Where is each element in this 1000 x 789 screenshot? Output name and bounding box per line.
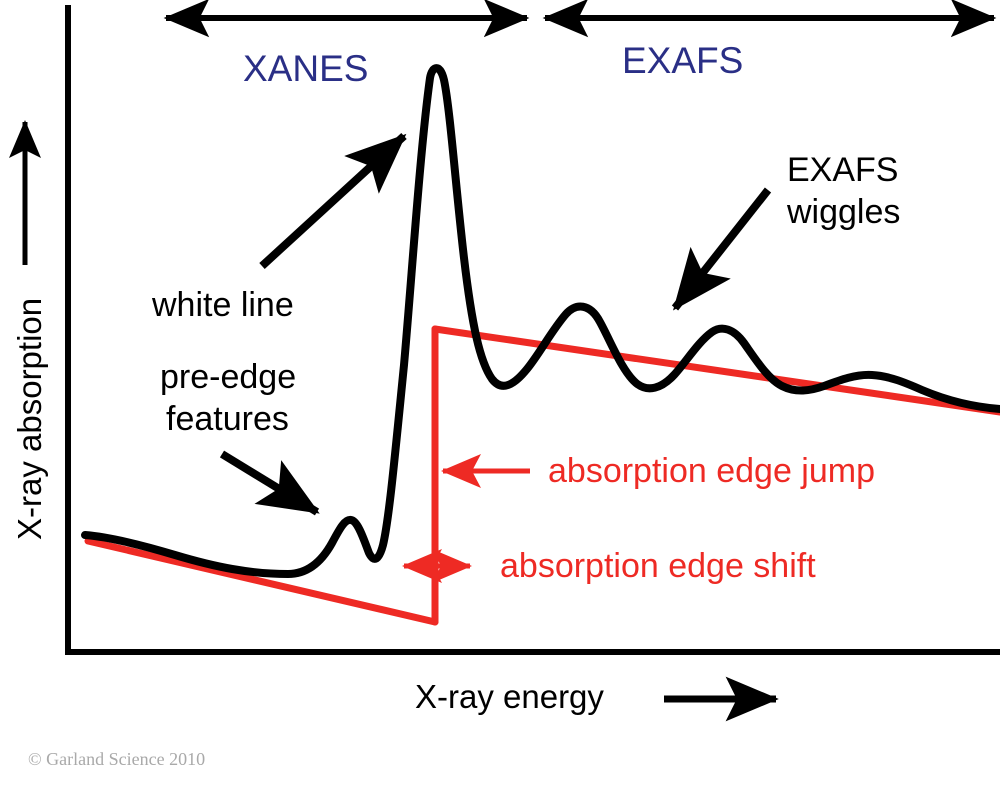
copyright-notice: © Garland Science 2010	[28, 749, 205, 769]
annotation-white-line: white line	[152, 286, 294, 324]
region-label-xanes: XANES	[243, 48, 368, 89]
region-label-exafs: EXAFS	[622, 40, 743, 81]
exafs-wiggles-callout-arrow-icon	[675, 190, 768, 308]
post-edge-background-line	[435, 329, 1000, 412]
pre-edge-callout-arrow-icon	[222, 454, 317, 512]
annotation-exafs-wiggles-line1: EXAFS	[787, 151, 898, 189]
x-axis-label: X-ray energy	[415, 679, 604, 716]
white-line-callout-arrow-icon	[262, 136, 404, 266]
annotation-pre-edge-line2: features	[166, 400, 289, 438]
annotation-pre-edge-line1: pre-edge	[160, 358, 296, 396]
y-axis-label: X-ray absorption	[12, 298, 49, 540]
annotation-edge-jump: absorption edge jump	[548, 452, 875, 490]
annotation-exafs-wiggles-line2: wiggles	[787, 193, 900, 231]
xafs-spectrum-figure: XANES EXAFS white line pre-edge features…	[0, 0, 1000, 789]
spectrum-plot-svg	[0, 0, 1000, 789]
annotation-edge-shift: absorption edge shift	[500, 547, 816, 585]
